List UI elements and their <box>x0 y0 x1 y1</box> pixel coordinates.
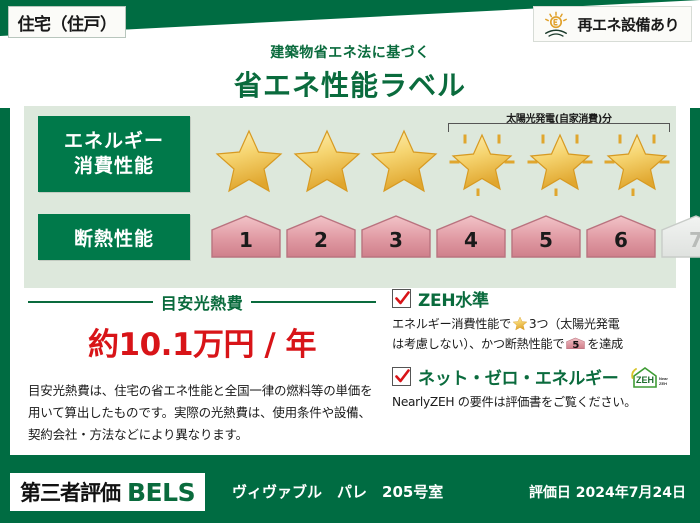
zeh-desc-part3: を達成 <box>587 337 623 351</box>
check-icon <box>394 290 411 307</box>
zeh-netzero-description: NearlyZEH の要件は評価書をご覧ください。 <box>392 393 676 413</box>
label-title-block: 建築物省エネ法に基づく 省エネ性能ラベル <box>0 42 700 104</box>
renewable-badge-label: 再エネ設備あり <box>577 14 679 35</box>
zeh-criteria-block: ZEH水準 エネルギー消費性能で3つ（太陽光発電 は考慮しない）、かつ断熱性能で… <box>392 286 676 423</box>
star-3 <box>365 124 443 198</box>
utility-cost-block: 目安光熱費 約10.1万円 / 年 目安光熱費は、住宅の省エネ性能と全国一律の燃… <box>28 290 376 446</box>
evaluation-date: 評価日 2024年7月24日 <box>529 482 686 502</box>
grade-6-number: 6 <box>585 228 657 252</box>
inline-star-icon <box>512 316 528 331</box>
zeh-netzero-header: ネット・ゼロ・エネルギー ZEH Nearly ZEH <box>392 364 676 389</box>
grade-7-number: 7 <box>660 228 700 252</box>
zeh-desc-part1: エネルギー消費性能で <box>392 317 511 331</box>
star-5-solar <box>521 124 599 198</box>
zeh-standard-checkbox[interactable] <box>392 289 411 308</box>
grade-3-number: 3 <box>360 228 432 252</box>
zeh-desc-star-count: 3つ（太陽光発電 <box>529 317 620 331</box>
zeh-standard-description: エネルギー消費性能で3つ（太陽光発電 は考慮しない）、かつ断熱性能で5を達成 <box>392 315 676 354</box>
energy-label-line2: 消費性能 <box>74 154 154 179</box>
utility-cost-note: 目安光熱費は、住宅の省エネ性能と全国一律の燃料等の単価を用いて算出したものです。… <box>28 380 376 446</box>
label-footer: 第三者評価 BELS ヴィヴァブル パレ 205号室 評価日 2024年7月24… <box>0 465 700 523</box>
inline-grade-number: 5 <box>566 338 585 354</box>
check-icon <box>394 368 411 385</box>
utility-cost-title: 目安光熱費 <box>161 290 244 314</box>
grade-1-number: 1 <box>210 228 282 252</box>
title-main: 省エネ性能ラベル <box>0 64 700 104</box>
grade-4-number: 4 <box>435 228 507 252</box>
svg-text:ZEH: ZEH <box>659 381 667 386</box>
title-subtitle: 建築物省エネ法に基づく <box>0 42 700 62</box>
star-2 <box>288 124 366 198</box>
star-4-solar <box>443 124 521 198</box>
insulation-grade-3: 3 <box>360 214 432 260</box>
zeh-desc-part2: は考慮しない）、かつ断熱性能で <box>392 337 564 351</box>
grade-5-number: 5 <box>510 228 582 252</box>
grade-2-number: 2 <box>285 228 357 252</box>
zeh-standard-header: ZEH水準 <box>392 286 676 311</box>
energy-row-label: エネルギー 消費性能 <box>38 116 190 192</box>
bels-jp-label: 第三者評価 <box>20 477 120 507</box>
energy-performance-row: エネルギー 消費性能 太陽光発電(自家消費)分 <box>24 114 676 206</box>
insulation-grade-scale: 1 2 3 <box>210 214 700 260</box>
utility-cost-heading: 目安光熱費 <box>28 290 376 314</box>
star-6-solar <box>598 124 676 198</box>
bels-en-label: BELS <box>127 478 195 507</box>
building-name: ヴィヴァブル パレ 205号室 <box>232 481 443 502</box>
insulation-row-label: 断熱性能 <box>38 214 190 260</box>
insulation-grade-5: 5 <box>510 214 582 260</box>
energy-star-rating <box>210 124 676 198</box>
energy-label-line1: エネルギー <box>64 129 164 154</box>
zeh-netzero-checkbox[interactable] <box>392 367 411 386</box>
performance-panel: エネルギー 消費性能 太陽光発電(自家消費)分 <box>24 106 676 288</box>
category-tag: 住宅（住戸） <box>8 6 126 38</box>
zeh-netzero-title: ネット・ゼロ・エネルギー <box>418 364 618 389</box>
heading-rule-right <box>251 301 376 303</box>
energy-performance-label: 住宅（住戸） 再エネ設備あり 建築物省エネ法に基づく 省エネ性能ラベル <box>0 0 700 523</box>
zeh-item-netzero: ネット・ゼロ・エネルギー ZEH Nearly ZEH NearlyZEH の要… <box>392 364 676 413</box>
zeh-item-standard: ZEH水準 エネルギー消費性能で3つ（太陽光発電 は考慮しない）、かつ断熱性能で… <box>392 286 676 354</box>
solar-sun-icon <box>542 11 570 37</box>
svg-text:ZEH: ZEH <box>636 375 654 385</box>
star-1 <box>210 124 288 198</box>
renewable-energy-badge: 再エネ設備あり <box>533 6 692 42</box>
inline-grade-badge: 5 <box>566 336 585 351</box>
insulation-grade-6: 6 <box>585 214 657 260</box>
insulation-grade-1: 1 <box>210 214 282 260</box>
bels-certification-box: 第三者評価 BELS <box>10 473 205 511</box>
insulation-grade-4: 4 <box>435 214 507 260</box>
utility-cost-value: 約10.1万円 / 年 <box>28 319 376 364</box>
zeh-house-logo: ZEH Nearly ZEH <box>630 365 668 389</box>
label-body-card: エネルギー 消費性能 太陽光発電(自家消費)分 <box>10 98 690 455</box>
insulation-grade-2: 2 <box>285 214 357 260</box>
insulation-performance-row: 断熱性能 <box>24 212 676 280</box>
heading-rule-left <box>28 301 153 303</box>
insulation-grade-7: 7 <box>660 214 700 260</box>
zeh-standard-title: ZEH水準 <box>418 286 489 311</box>
